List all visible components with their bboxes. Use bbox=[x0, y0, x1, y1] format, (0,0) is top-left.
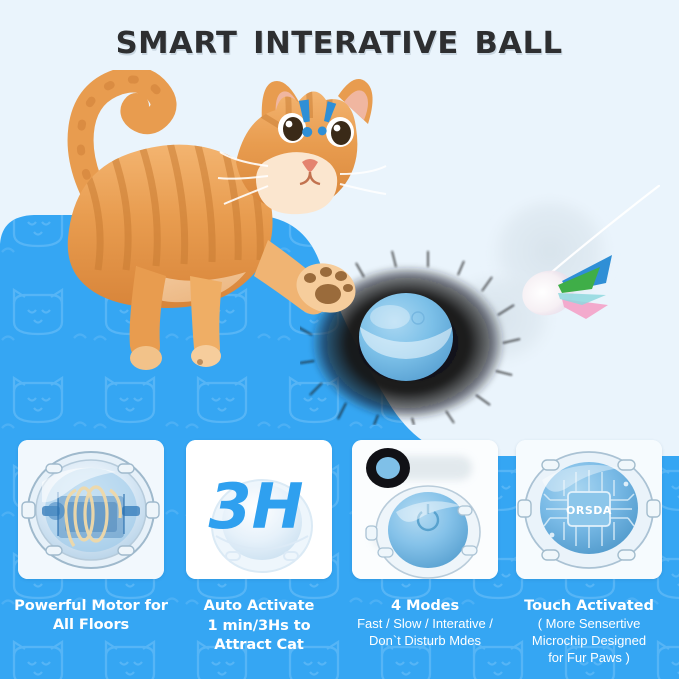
label-line-1: 4 Modes bbox=[340, 596, 510, 615]
small-covered-ball bbox=[366, 448, 410, 488]
label-powerful-motor: Powerful Motor for All Floors bbox=[6, 596, 176, 634]
label-sub-2: Don`t Disturb Mdes bbox=[340, 633, 510, 649]
label-line-3: Attract Cat bbox=[174, 635, 344, 655]
product-poster: Smart Interative Ball bbox=[0, 0, 679, 679]
feature-cards: 3H bbox=[0, 440, 679, 580]
brand-label: ORSDA bbox=[566, 504, 612, 517]
cat-rear-leg bbox=[130, 266, 166, 370]
badge-3h: 3H bbox=[208, 470, 303, 543]
microchip-ball-icon: ORSDA bbox=[516, 440, 662, 579]
label-sub-2: Microchip Designed bbox=[504, 633, 674, 649]
label-four-modes: 4 Modes Fast / Slow / Interative / Don`t… bbox=[340, 596, 510, 649]
label-sub-3: for Fur Paws ) bbox=[504, 650, 674, 666]
feature-card-powerful-motor[interactable] bbox=[18, 440, 164, 579]
feature-card-touch-activated[interactable]: ORSDA bbox=[516, 440, 662, 579]
label-auto-activate: Auto Activate 1 min/3Hs to Attract Cat bbox=[174, 596, 344, 655]
page-title: Smart Interative Ball bbox=[116, 18, 563, 61]
motor-xray-icon bbox=[18, 440, 164, 579]
label-line-1: Powerful Motor for bbox=[6, 596, 176, 615]
three-hours-icon: 3H bbox=[186, 440, 332, 579]
feature-card-auto-activate[interactable]: 3H bbox=[186, 440, 332, 579]
cat-reaching-paw bbox=[254, 240, 362, 320]
cat-front-leg bbox=[190, 276, 222, 367]
rolling-ball-icon bbox=[352, 440, 498, 579]
label-sub-1: ( More Sensertive bbox=[504, 616, 674, 632]
feature-labels: Powerful Motor for All Floors Auto Activ… bbox=[0, 596, 679, 679]
label-line-2: All Floors bbox=[6, 615, 176, 634]
label-touch-activated: Touch Activated ( More Sensertive Microc… bbox=[504, 596, 674, 666]
label-sub-1: Fast / Slow / Interative / bbox=[340, 616, 510, 632]
label-line-2: 1 min/3Hs to bbox=[174, 616, 344, 636]
page-title-container: Smart Interative Ball bbox=[0, 18, 679, 61]
label-line-1: Auto Activate bbox=[174, 596, 344, 616]
excitement-marks bbox=[288, 96, 348, 144]
cat-illustration bbox=[40, 70, 460, 400]
label-line-1: Touch Activated bbox=[504, 596, 674, 615]
feature-card-four-modes[interactable] bbox=[352, 440, 498, 579]
